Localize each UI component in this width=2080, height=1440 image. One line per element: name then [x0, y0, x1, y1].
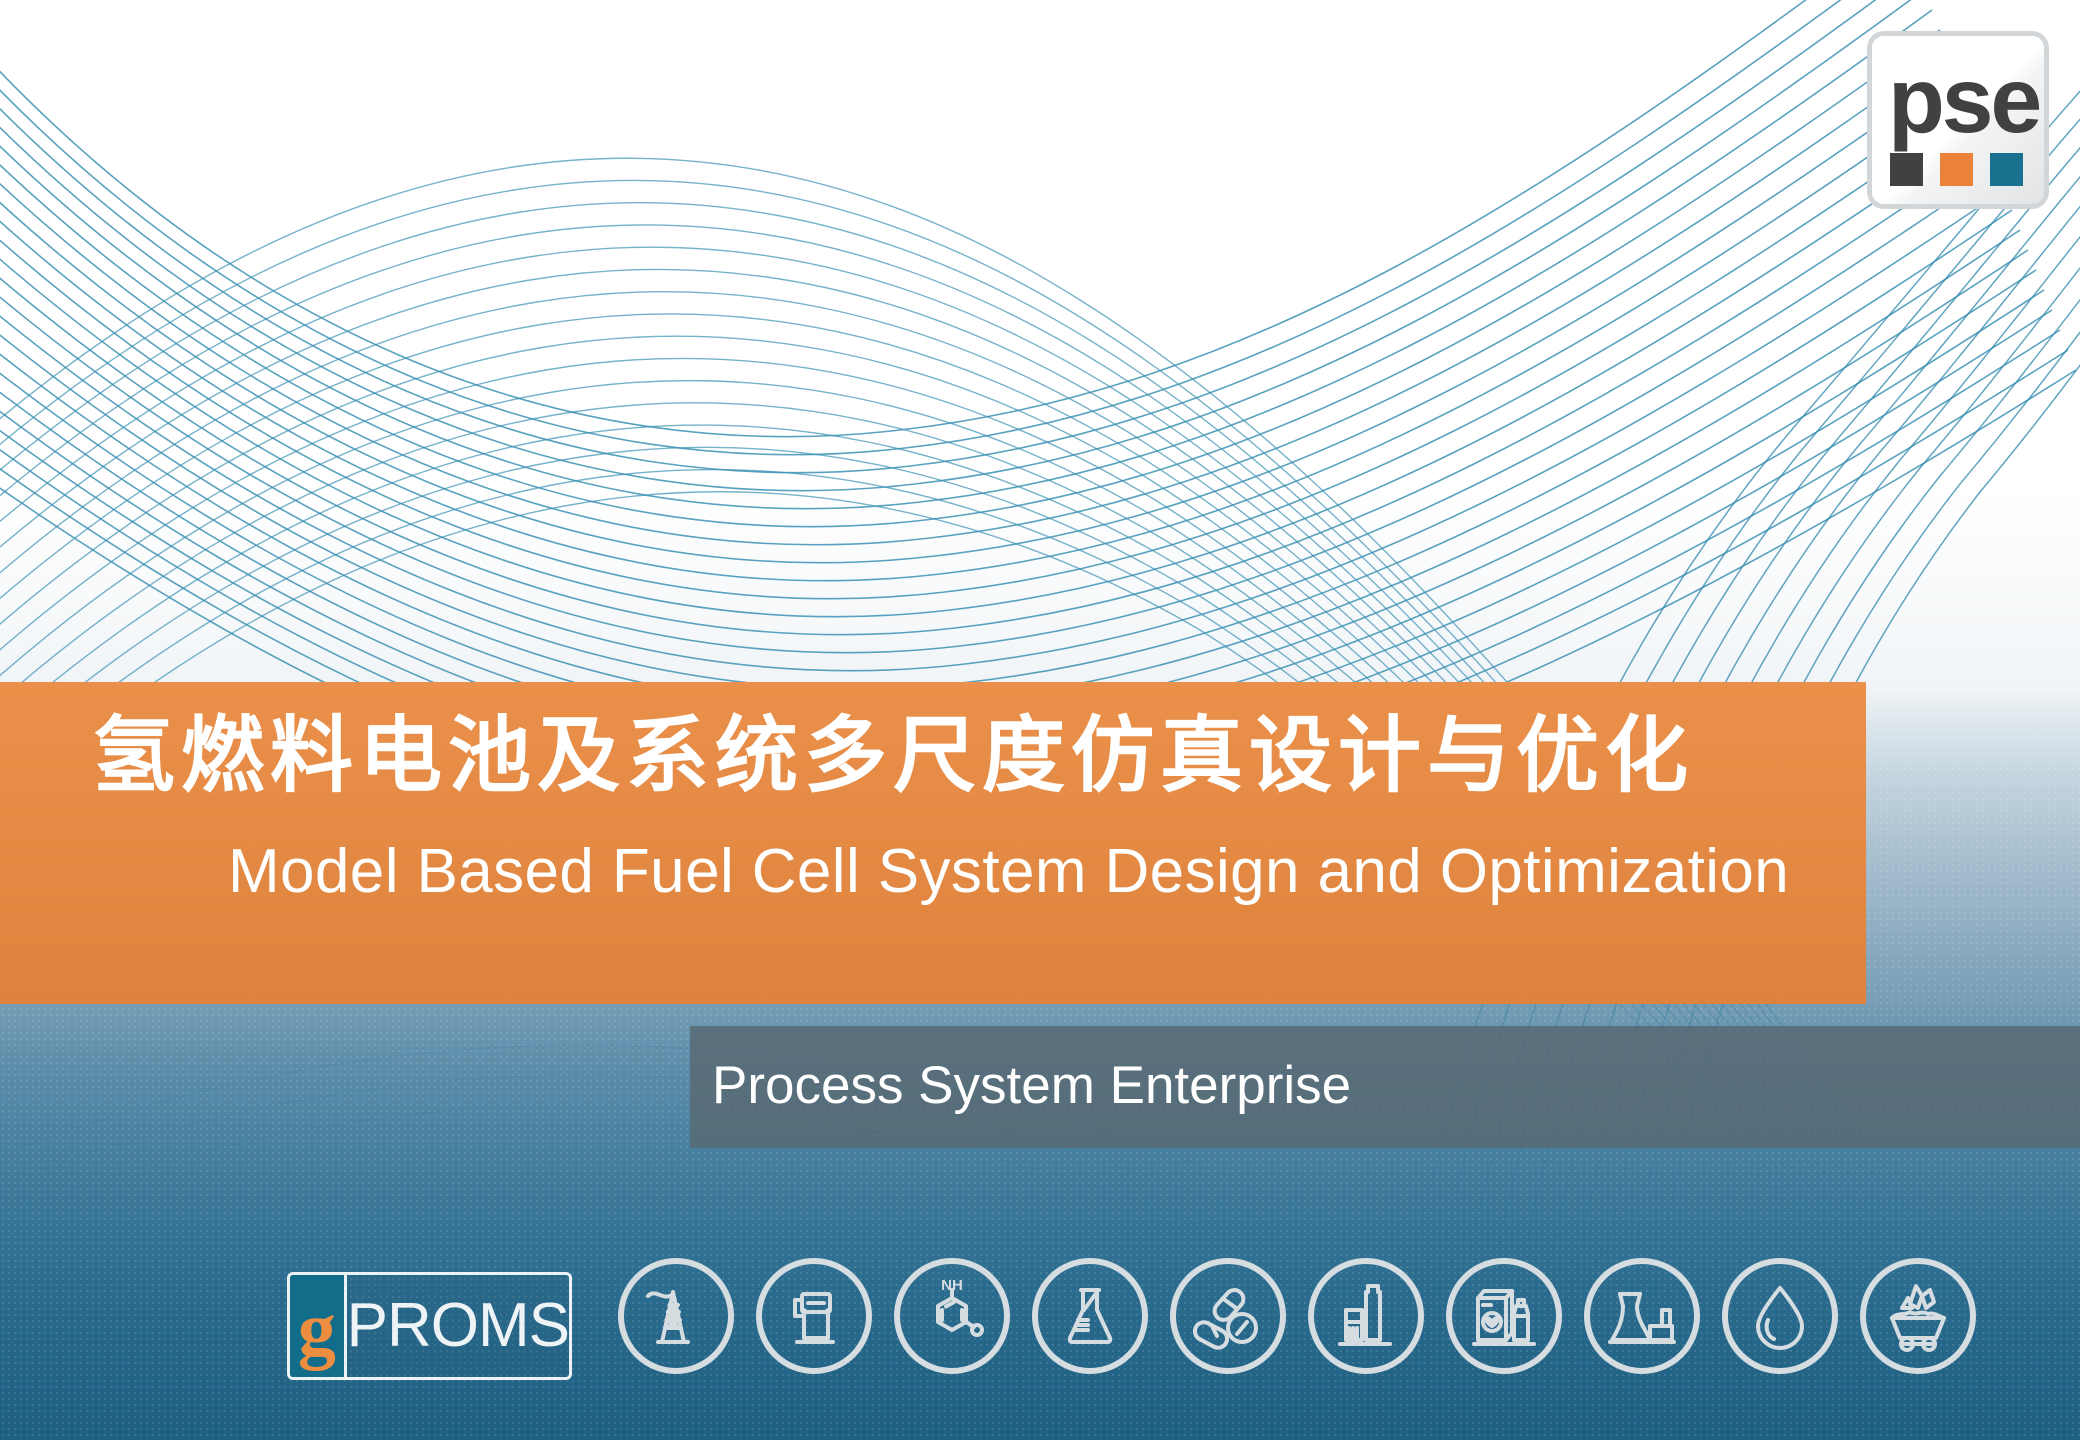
water-droplet-icon: [1722, 1258, 1838, 1374]
pse-square-dark: [1890, 153, 1923, 186]
slide-title-chinese: 氢燃料电池及系统多尺度仿真设计与优化: [92, 696, 1694, 816]
pse-square-teal: [1990, 153, 2023, 186]
gproms-g-letter: g: [298, 1291, 336, 1367]
gproms-g-block: g: [290, 1275, 347, 1377]
pse-wordmark: pse: [1888, 50, 2039, 150]
industry-icon-strip: NH: [618, 1258, 1976, 1374]
pse-logo: pse: [1872, 36, 2044, 204]
pse-logo-squares: [1890, 153, 2023, 186]
benzene-nh-molecule-icon: NH: [894, 1258, 1010, 1374]
fuel-pump-icon: [756, 1258, 872, 1374]
gproms-wordmark: PROMS: [347, 1295, 569, 1357]
mining-cart-minerals-icon: [1860, 1258, 1976, 1374]
title-band: 氢燃料电池及系统多尺度仿真设计与优化 Model Based Fuel Cell…: [0, 682, 1866, 1004]
power-plant-cooling-tower-icon: [1584, 1258, 1700, 1374]
gproms-logo: g PROMS: [287, 1272, 572, 1380]
subtitle-text: Process System Enterprise: [712, 1046, 1351, 1126]
gproms-word-block: PROMS: [347, 1275, 569, 1377]
slide-title-english: Model Based Fuel Cell System Design and …: [228, 830, 1789, 914]
pills-capsules-icon: [1170, 1258, 1286, 1374]
agrochemical-box-icon: [1446, 1258, 1562, 1374]
subtitle-band: Process System Enterprise: [690, 1026, 2080, 1148]
erlenmeyer-flask-icon: [1032, 1258, 1148, 1374]
svg-text:NH: NH: [941, 1278, 963, 1294]
title-slide: pse 氢燃料电池及系统多尺度仿真设计与优化 Model Based Fuel …: [0, 0, 2080, 1440]
pse-square-orange: [1940, 153, 1973, 186]
oil-rig-icon: [618, 1258, 734, 1374]
consumer-goods-bottles-icon: [1308, 1258, 1424, 1374]
